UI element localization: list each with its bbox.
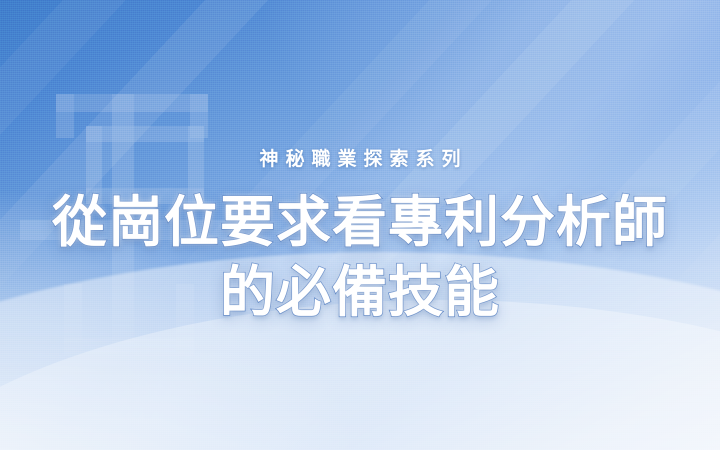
banner-title: 從崗位要求看專利分析師 的必備技能 <box>52 187 668 327</box>
banner-title-line-1: 從崗位要求看專利分析師 <box>52 187 668 257</box>
banner-content: 神秘職業探索系列 從崗位要求看專利分析師 的必備技能 <box>0 0 720 450</box>
series-subtitle: 神秘職業探索系列 <box>252 150 467 169</box>
title-banner: 神秘職業探索系列 從崗位要求看專利分析師 的必備技能 <box>0 0 720 450</box>
banner-title-line-2: 的必備技能 <box>52 257 668 327</box>
